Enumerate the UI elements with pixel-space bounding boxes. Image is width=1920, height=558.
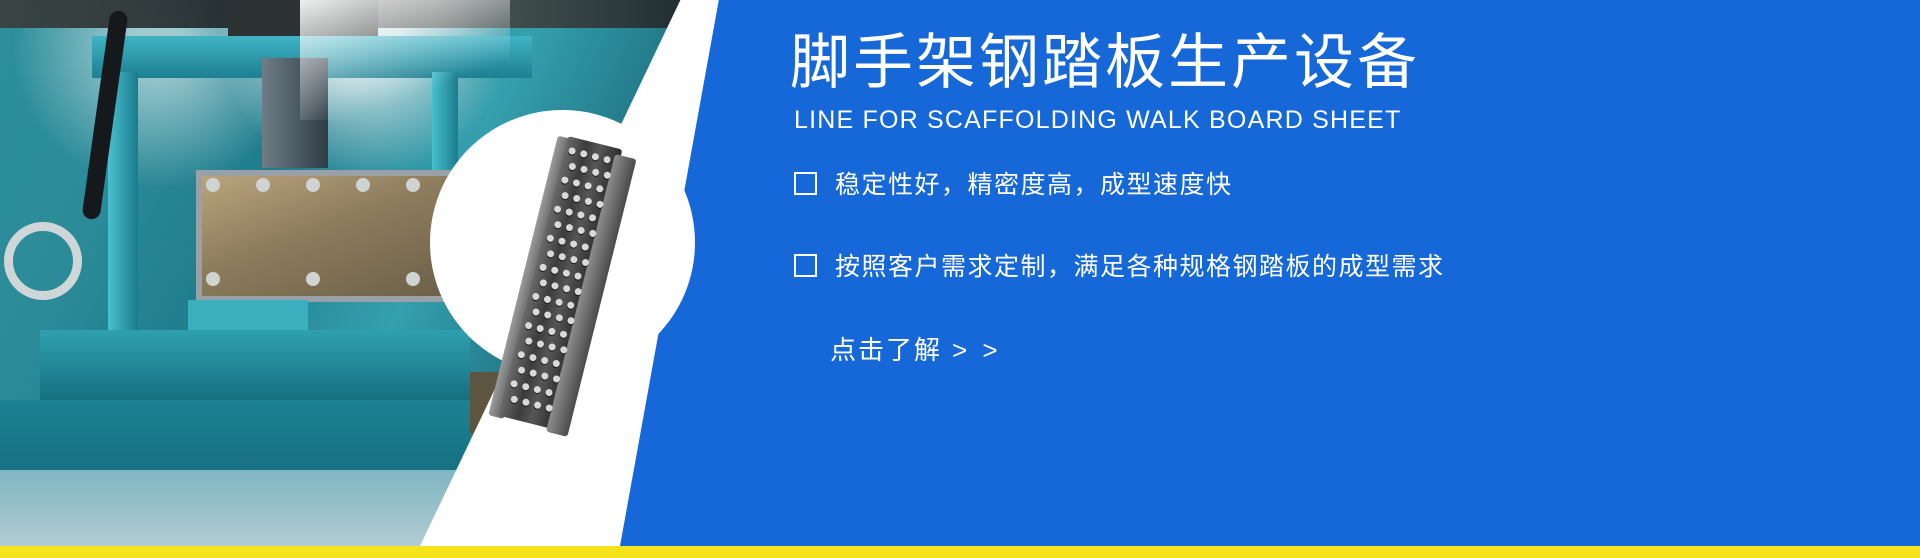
product-perforation: [550, 266, 558, 274]
square-bullet-icon: [794, 254, 817, 277]
product-perforation: [566, 301, 574, 309]
product-perforation: [562, 285, 570, 293]
product-perforation: [558, 253, 566, 261]
product-perforation: [533, 401, 541, 409]
photo-detail-highlight: [300, 0, 510, 120]
photo-detail-bolt: [406, 178, 420, 192]
photo-detail-bolt: [256, 178, 270, 192]
feature-list: 稳定性好，精密度高，成型速度快 按照客户需求定制，满足各种规格钢踏板的成型需求: [794, 165, 1874, 329]
product-perforation: [570, 255, 578, 263]
product-perforation: [532, 292, 540, 300]
product-perforation: [562, 269, 570, 277]
product-perforation: [552, 375, 560, 383]
photo-detail-base: [40, 330, 470, 400]
product-perforation: [546, 250, 554, 258]
product-perforation: [561, 176, 569, 184]
product-perforation: [580, 150, 588, 158]
product-perforation: [536, 324, 544, 332]
list-item: 按照客户需求定制，满足各种规格钢踏板的成型需求: [794, 247, 1874, 283]
square-bullet-icon: [794, 172, 817, 195]
learn-more-link[interactable]: 点击了解> >: [830, 330, 1002, 367]
product-perforation: [596, 185, 604, 193]
product-perforation: [580, 165, 588, 173]
product-perforation: [559, 346, 567, 354]
product-perforation: [548, 343, 556, 351]
product-perforation: [551, 282, 559, 290]
bottom-accent-strip: [0, 546, 1920, 558]
product-perforation: [522, 398, 530, 406]
product-perforation: [603, 171, 611, 179]
product-perforation: [591, 153, 599, 161]
product-perforation: [567, 317, 575, 325]
product-perforation: [572, 179, 580, 187]
product-perforation: [572, 194, 580, 202]
product-perforation: [533, 385, 541, 393]
product-perforation: [561, 191, 569, 199]
product-perforation: [524, 321, 532, 329]
product-perforation: [596, 200, 604, 208]
product-perforation: [553, 205, 561, 213]
product-perforation: [548, 327, 556, 335]
product-perforation: [559, 330, 567, 338]
product-perforation: [539, 279, 547, 287]
product-perforation: [555, 298, 563, 306]
product-perforation: [577, 226, 585, 234]
product-perforation: [577, 211, 585, 219]
product-perforation: [543, 311, 551, 319]
product-perforation: [529, 353, 537, 361]
product-perforation: [591, 168, 599, 176]
feature-text: 稳定性好，精密度高，成型速度快: [835, 165, 1233, 201]
product-perforation: [521, 383, 529, 391]
product-perforation: [581, 243, 589, 251]
product-perforation: [574, 272, 582, 280]
promo-banner: 脚手架钢踏板生产设备 LINE FOR SCAFFOLDING WALK BOA…: [0, 0, 1920, 558]
product-perforation: [546, 234, 554, 242]
product-perforation: [539, 263, 547, 271]
product-perforation: [565, 208, 573, 216]
product-perforation: [536, 340, 544, 348]
product-perforation: [517, 351, 525, 359]
banner-content: 脚手架钢踏板生产设备 LINE FOR SCAFFOLDING WALK BOA…: [790, 0, 1920, 546]
product-perforation: [568, 147, 576, 155]
product-perforation: [525, 337, 533, 345]
photo-detail-bolt: [306, 272, 320, 286]
photo-detail-handwheel: [4, 222, 82, 300]
product-perforation: [581, 258, 589, 266]
product-perforation: [510, 380, 518, 388]
product-perforation: [558, 237, 566, 245]
product-perforation: [603, 155, 611, 163]
feature-text: 按照客户需求定制，满足各种规格钢踏板的成型需求: [835, 247, 1445, 283]
product-perforation: [543, 295, 551, 303]
photo-detail-bolt: [206, 272, 220, 286]
photo-detail-bolt: [406, 272, 420, 286]
product-perforation: [541, 372, 549, 380]
product-perforation: [574, 287, 582, 295]
list-item: 稳定性好，精密度高，成型速度快: [794, 165, 1874, 201]
product-perforation: [545, 388, 553, 396]
product-perforation: [510, 395, 518, 403]
product-perforation: [555, 314, 563, 322]
product-perforation: [532, 308, 540, 316]
product-perforation: [568, 162, 576, 170]
learn-more-label: 点击了解: [830, 335, 942, 365]
product-perforation: [589, 229, 597, 237]
product-perforation: [554, 220, 562, 228]
product-perforation: [517, 366, 525, 374]
product-perforation: [545, 404, 553, 412]
page-subtitle: LINE FOR SCAFFOLDING WALK BOARD SHEET: [794, 106, 1401, 135]
product-perforation: [569, 240, 577, 248]
product-perforation: [584, 197, 592, 205]
double-chevron-right-icon: > >: [952, 335, 1002, 365]
photo-detail-bolt: [206, 178, 220, 192]
product-perforation: [565, 223, 573, 231]
photo-detail-bolt: [356, 178, 370, 192]
product-perforation: [584, 182, 592, 190]
page-title: 脚手架钢踏板生产设备: [790, 30, 1420, 96]
product-perforation: [588, 214, 596, 222]
product-perforation: [552, 359, 560, 367]
photo-detail-bolt: [306, 178, 320, 192]
product-perforation: [529, 369, 537, 377]
product-perforation: [540, 356, 548, 364]
